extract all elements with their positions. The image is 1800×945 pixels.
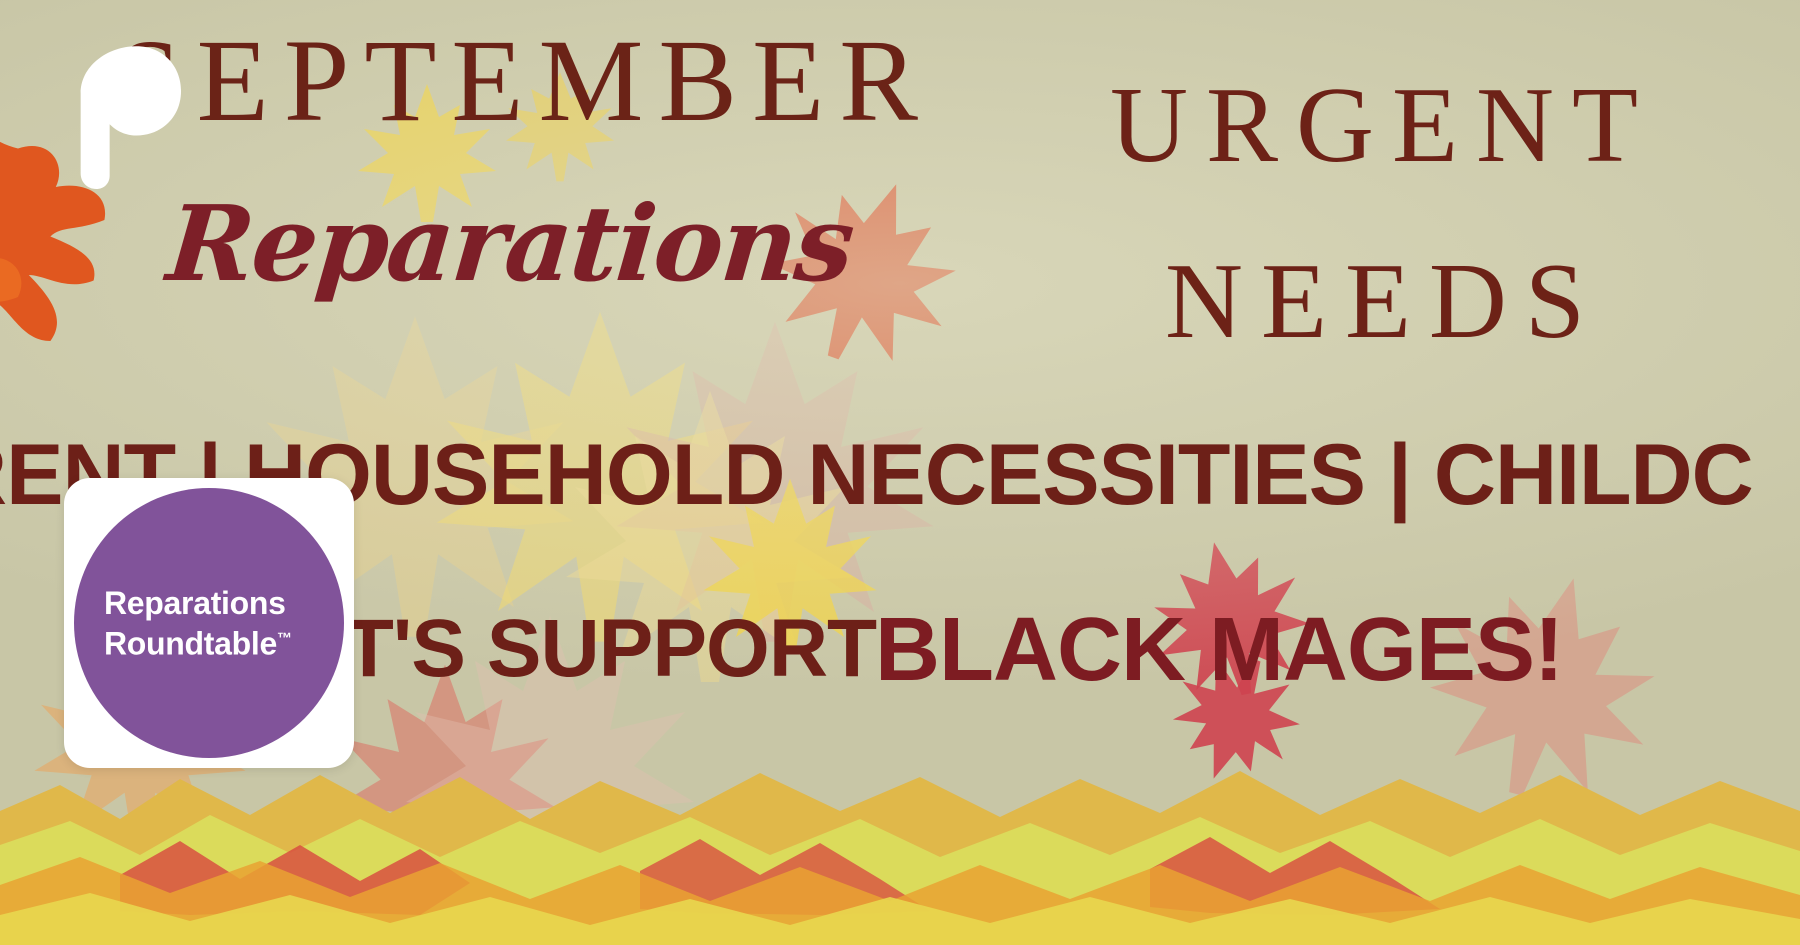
cover-month-text: SEPTEMBER bbox=[116, 22, 933, 140]
cover-support-prefix-text: ET'S SUPPORT bbox=[290, 608, 876, 690]
creator-page-cover: SEPTEMBER Reparations URGENT NEEDS RENT … bbox=[0, 0, 1800, 945]
trademark-symbol: ™ bbox=[277, 630, 292, 647]
creator-avatar-card[interactable]: Reparations Roundtable™ bbox=[64, 478, 354, 768]
avatar-circle: Reparations Roundtable™ bbox=[74, 488, 344, 758]
patreon-logo-icon[interactable] bbox=[70, 44, 185, 189]
cover-script-text: Reparations bbox=[163, 192, 856, 296]
avatar-line-2: Roundtable™ bbox=[104, 621, 292, 662]
avatar-line-1: Reparations bbox=[104, 585, 286, 621]
cover-needs-text: NEEDS bbox=[1165, 248, 1603, 356]
cover-support-target-text: BLACK MAGES! bbox=[875, 605, 1563, 695]
cover-image: SEPTEMBER Reparations URGENT NEEDS RENT … bbox=[0, 0, 1800, 945]
avatar-line-2-text: Roundtable bbox=[104, 625, 277, 661]
cover-urgent-text: URGENT bbox=[1110, 72, 1656, 180]
